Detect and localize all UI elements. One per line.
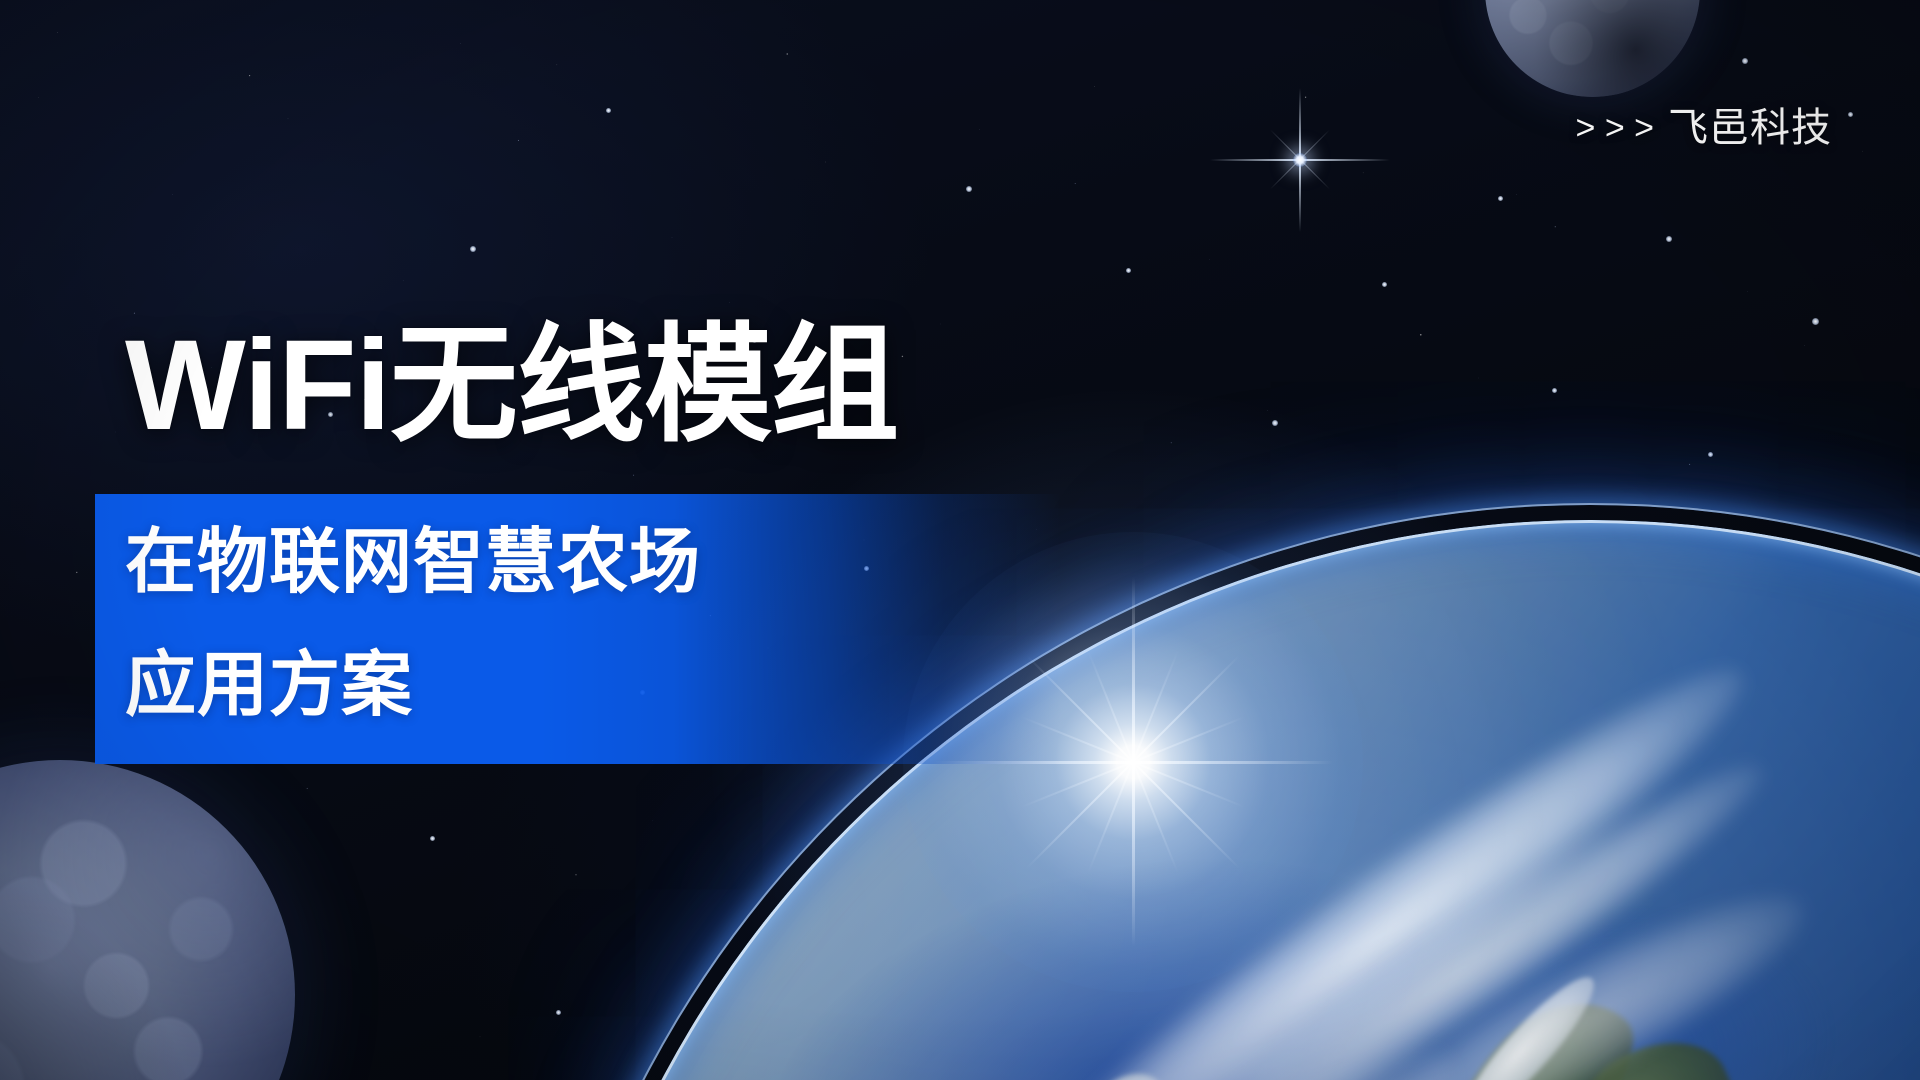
brand-logo[interactable]: > > > 飞邑科技: [1576, 108, 1832, 148]
star-dot: [556, 1010, 561, 1015]
star-dot: [1498, 196, 1503, 201]
star-dot: [1552, 388, 1557, 393]
star-dot: [1666, 236, 1672, 242]
star-dot: [966, 186, 972, 192]
star-dot: [1382, 282, 1387, 287]
brand-name: 飞邑科技: [1668, 108, 1832, 148]
star-dot: [1848, 112, 1853, 117]
subtitle-line-2: 应用方案: [125, 621, 701, 750]
star-dot: [1126, 268, 1131, 273]
chevron-right-icons: > > >: [1576, 111, 1654, 145]
star-dot: [470, 246, 476, 252]
star-dot: [606, 108, 611, 113]
star-core: [1293, 153, 1307, 167]
subtitle-line-1: 在物联网智慧农场: [125, 498, 701, 627]
star-dot: [1708, 452, 1713, 457]
subtitle-text: 在物联网智慧农场 应用方案: [125, 498, 701, 750]
star-dot: [430, 836, 435, 841]
star-dot: [1812, 318, 1819, 325]
star-dot: [1742, 58, 1748, 64]
page-title: WiFi无线模组: [125, 318, 898, 454]
presentation-slide: > > > 飞邑科技 WiFi无线模组 在物联网智慧农场 应用方案: [0, 0, 1920, 1080]
